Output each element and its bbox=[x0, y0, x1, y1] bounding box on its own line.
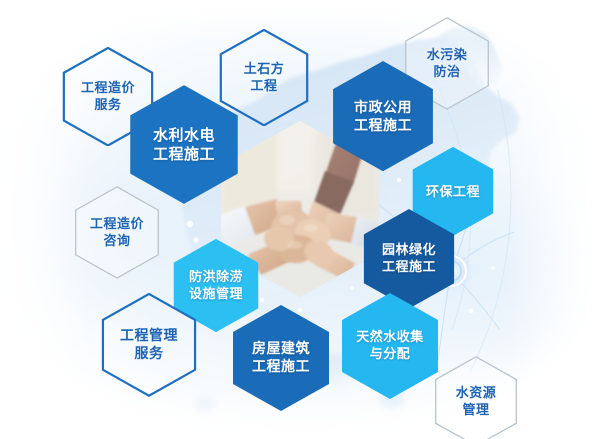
hexagon-label: 天然水收集 与分配 bbox=[352, 329, 428, 362]
hexagon-label: 工程管理 服务 bbox=[116, 327, 182, 363]
hexagon-label: 工程造价 咨询 bbox=[86, 216, 148, 249]
hexagon-natural-water-collection-distribution[interactable]: 天然水收集 与分配 bbox=[340, 292, 440, 400]
hexagon-label: 工程造价 服务 bbox=[77, 80, 139, 113]
hexagon-water-resources-management[interactable]: 水资源 管理 bbox=[434, 356, 518, 439]
hexagon-engineering-management-service[interactable]: 工程管理 服务 bbox=[101, 293, 197, 397]
hexagon-label: 市政公用 工程施工 bbox=[350, 99, 416, 135]
hexagon-building-construction-works[interactable]: 房屋建筑 工程施工 bbox=[231, 304, 331, 412]
hexagon-label: 水利水电 工程施工 bbox=[149, 126, 219, 164]
hexagon-label: 房屋建筑 工程施工 bbox=[248, 340, 314, 376]
hexagon-label: 水污染 防治 bbox=[423, 47, 472, 80]
hexagon-label: 环保工程 bbox=[422, 184, 484, 201]
hexagon-label: 土石方 工程 bbox=[240, 61, 289, 94]
hexagon-label: 防洪除涝 设施管理 bbox=[185, 269, 247, 302]
hexagon-label: 水资源 管理 bbox=[452, 385, 501, 418]
hexagon-engineering-cost-consulting[interactable]: 工程造价 咨询 bbox=[74, 186, 160, 280]
hexagon-label: 园林绿化 工程施工 bbox=[378, 242, 440, 275]
infographic-canvas: 工程造价 服务土石方 工程水污染 防治市政公用 工程施工水利水电 工程施工环保工… bbox=[0, 0, 600, 439]
